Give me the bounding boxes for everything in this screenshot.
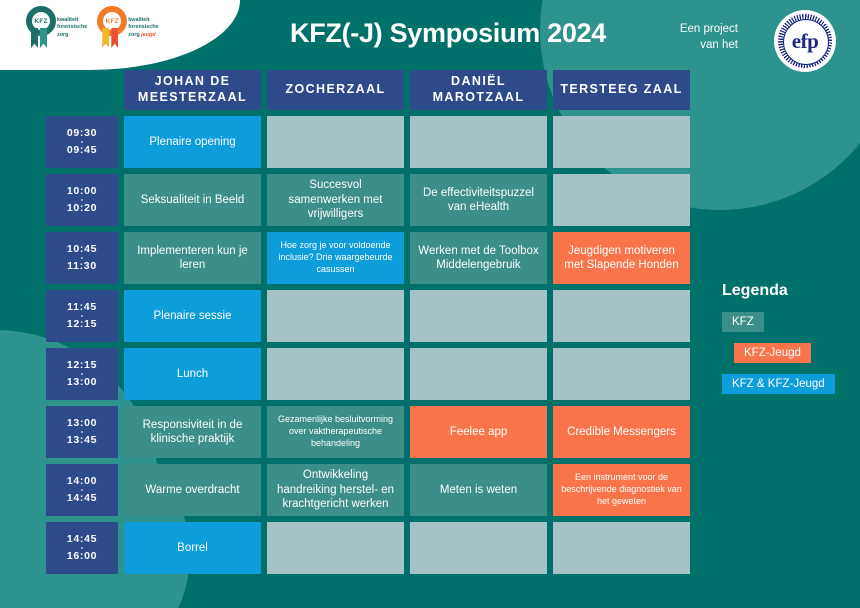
session-cell-empty bbox=[553, 522, 690, 574]
time-slot-6: 14:00-14:45 bbox=[46, 464, 118, 516]
time-end: 13:00 bbox=[67, 376, 97, 389]
session-cell[interactable]: Borrel bbox=[124, 522, 261, 574]
page-title: KFZ(-J) Symposium 2024 bbox=[248, 18, 648, 49]
schedule-row: 14:00-14:45Warme overdrachtOntwikkeling … bbox=[46, 464, 690, 516]
session-cell-empty bbox=[267, 290, 404, 342]
time-slot-4: 12:15-13:00 bbox=[46, 348, 118, 400]
jeugd-accent: jeugd bbox=[141, 32, 155, 38]
poster-canvas: KFZ kwaliteit forensische zorg KFZ bbox=[0, 0, 860, 608]
schedule-grid: JOHAN DE MEESTERZAAL ZOCHERZAAL DANIËL M… bbox=[46, 70, 690, 580]
session-cell-empty bbox=[410, 348, 547, 400]
session-cell-empty bbox=[267, 116, 404, 168]
logo-group: KFZ kwaliteit forensische zorg KFZ bbox=[24, 6, 159, 50]
time-slot-7: 14:45-16:00 bbox=[46, 522, 118, 574]
session-cell[interactable]: Warme overdracht bbox=[124, 464, 261, 516]
session-cell-empty bbox=[553, 174, 690, 226]
schedule-row: 10:45-11:30Implementeren kun je lerenHoe… bbox=[46, 232, 690, 284]
efp-logo-text: efp bbox=[792, 29, 819, 54]
session-cell-empty bbox=[553, 116, 690, 168]
legend-item-both: KFZ & KFZ-Jeugd bbox=[722, 374, 835, 394]
session-cell-empty bbox=[553, 348, 690, 400]
time-end: 12:15 bbox=[67, 318, 97, 331]
project-attribution: Een project van het bbox=[680, 22, 738, 53]
schedule-row: 10:00-10:20Seksualiteit in BeeldSuccesvo… bbox=[46, 174, 690, 226]
session-cell[interactable]: Ontwikkeling handreiking herstel- en kra… bbox=[267, 464, 404, 516]
session-cell[interactable]: Feelee app bbox=[410, 406, 547, 458]
session-cell[interactable]: Seksualiteit in Beeld bbox=[124, 174, 261, 226]
legend-item-jeugd: KFZ-Jeugd bbox=[734, 343, 811, 363]
column-header-row: JOHAN DE MEESTERZAAL ZOCHERZAAL DANIËL M… bbox=[46, 70, 690, 110]
efp-logo-icon: efp bbox=[774, 10, 836, 72]
session-cell[interactable]: Meten is weten bbox=[410, 464, 547, 516]
schedule-row: 14:45-16:00Borrel bbox=[46, 522, 690, 574]
session-cell-empty bbox=[410, 290, 547, 342]
session-cell[interactable]: Hoe zorg je voor voldoende inclusie? Dri… bbox=[267, 232, 404, 284]
session-cell[interactable]: Implementeren kun je leren bbox=[124, 232, 261, 284]
session-cell-empty bbox=[410, 116, 547, 168]
column-header-2: DANIËL MAROTZAAL bbox=[410, 70, 547, 110]
project-line-2: van het bbox=[680, 38, 738, 54]
time-slot-5: 13:00-13:45 bbox=[46, 406, 118, 458]
session-cell[interactable]: Plenaire opening bbox=[124, 116, 261, 168]
schedule-row: 11:45-12:15Plenaire sessie bbox=[46, 290, 690, 342]
time-end: 10:20 bbox=[67, 202, 97, 215]
kfz-jeugd-logo: KFZ kwaliteit forensische zorg jeugd bbox=[95, 6, 158, 50]
schedule-row: 09:30-09:45Plenaire opening bbox=[46, 116, 690, 168]
time-column-header-spacer bbox=[46, 70, 118, 110]
session-cell[interactable]: Jeugdigen motiveren met Slapende Honden bbox=[553, 232, 690, 284]
project-line-1: Een project bbox=[680, 22, 738, 38]
time-end: 14:45 bbox=[67, 492, 97, 505]
legend-row: KFZ bbox=[722, 312, 835, 343]
time-end: 11:30 bbox=[67, 260, 97, 273]
time-end: 16:00 bbox=[67, 550, 97, 563]
legend-row: KFZ-Jeugd bbox=[734, 343, 835, 374]
time-slot-1: 10:00-10:20 bbox=[46, 174, 118, 226]
session-cell-empty bbox=[267, 522, 404, 574]
kfz-logo-text: kwaliteit forensische zorg bbox=[57, 17, 87, 39]
time-end: 13:45 bbox=[67, 434, 97, 447]
session-cell[interactable]: Gezamenlijke besluitvorming over vakther… bbox=[267, 406, 404, 458]
time-slot-0: 09:30-09:45 bbox=[46, 116, 118, 168]
session-cell[interactable]: Succesvol samenwerken met vrijwilligers bbox=[267, 174, 404, 226]
logo-panel: KFZ kwaliteit forensische zorg KFZ bbox=[0, 0, 240, 70]
kfz-jeugd-logo-text: kwaliteit forensische zorg jeugd bbox=[128, 17, 158, 39]
kfz-medal-icon: KFZ bbox=[24, 6, 54, 50]
schedule-row: 12:15-13:00Lunch bbox=[46, 348, 690, 400]
session-cell[interactable]: De effectiviteitspuzzel van eHealth bbox=[410, 174, 547, 226]
schedule-row: 13:00-13:45Responsiviteit in de klinisch… bbox=[46, 406, 690, 458]
time-slot-3: 11:45-12:15 bbox=[46, 290, 118, 342]
session-cell[interactable]: Plenaire sessie bbox=[124, 290, 261, 342]
kfz-logo: KFZ kwaliteit forensische zorg bbox=[24, 6, 87, 50]
legend-row: KFZ & KFZ-Jeugd bbox=[722, 374, 835, 405]
legend-title: Legenda bbox=[722, 282, 835, 300]
time-end: 09:45 bbox=[67, 144, 97, 157]
legend: Legenda KFZKFZ-JeugdKFZ & KFZ-Jeugd bbox=[722, 282, 835, 405]
session-cell[interactable]: Werken met de Toolbox Middelengebruik bbox=[410, 232, 547, 284]
column-header-3: TERSTEEG ZAAL bbox=[553, 70, 690, 110]
session-cell[interactable]: Responsiviteit in de klinische praktijk bbox=[124, 406, 261, 458]
time-slot-2: 10:45-11:30 bbox=[46, 232, 118, 284]
session-cell[interactable]: Een instrument voor de beschrijvende dia… bbox=[553, 464, 690, 516]
session-cell-empty bbox=[553, 290, 690, 342]
session-cell-empty bbox=[267, 348, 404, 400]
session-cell[interactable]: Credible Messengers bbox=[553, 406, 690, 458]
session-cell[interactable]: Lunch bbox=[124, 348, 261, 400]
column-header-0: JOHAN DE MEESTERZAAL bbox=[124, 70, 261, 110]
session-cell-empty bbox=[410, 522, 547, 574]
kfz-jeugd-medal-icon: KFZ bbox=[95, 6, 125, 50]
legend-item-kfz: KFZ bbox=[722, 312, 764, 332]
column-header-1: ZOCHERZAAL bbox=[267, 70, 404, 110]
